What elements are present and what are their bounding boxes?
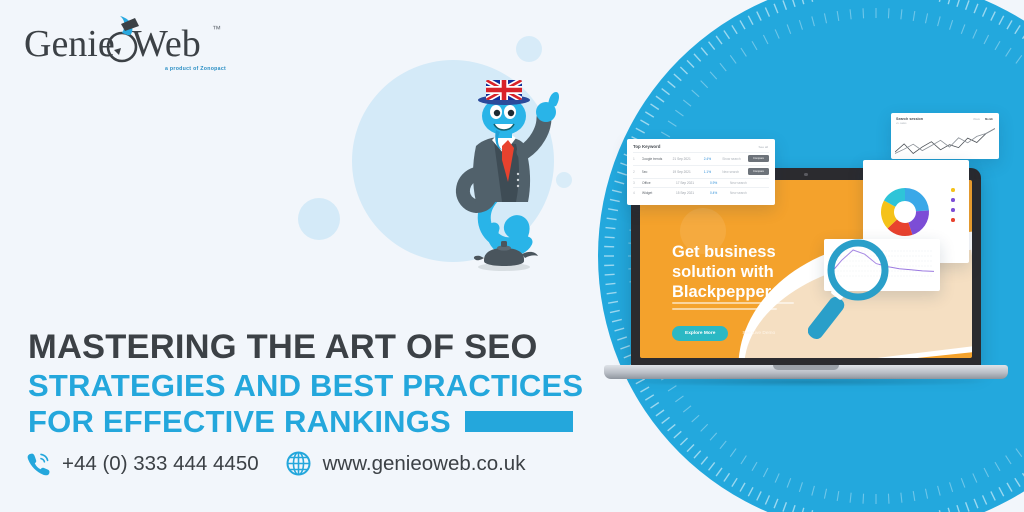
row-keyword: Widget [642,191,672,195]
headline-line-3-wrap: FOR EFFECTIVE RANKINGS [28,406,573,438]
headline-block: MASTERING THE ART OF SEO STRATEGIES AND … [28,330,573,437]
phone-number: +44 (0) 333 444 4450 [62,452,259,476]
magnifier-icon [808,236,894,340]
hero-subtext-placeholder [672,302,794,314]
row-group: New search [722,170,744,174]
phone-icon [24,450,51,477]
logo-tagline: a product of Zonopact [165,66,226,72]
contact-row: +44 (0) 333 444 4450 www.genieoweb.co.uk [24,450,525,477]
row-change: 1.1% [704,170,718,174]
genie-mascot [432,78,567,283]
row-change: 2.4% [704,157,718,161]
svg-text:Genie: Genie [24,23,115,65]
row-keyword: Office [642,181,672,185]
row-volume: 17 Sep 2021 [676,181,706,185]
legend-dot [951,198,955,202]
row-index: 3 [633,181,638,185]
row-action-button[interactable]: Compare [748,168,769,175]
line-chart-subtitle: vs. sales [896,122,994,125]
row-group: Show search [722,157,744,161]
row-index: 2 [633,170,638,174]
genieweb-logo[interactable]: Genie Web ™ a product of Zonopact [22,14,232,72]
globe-icon [285,450,312,477]
laptop-trackpad-notch [773,365,839,370]
row-volume: 19 Sep 2021 [673,170,700,174]
row-group: New search [730,181,754,185]
table-row[interactable]: 3 Office 17 Sep 2021 0.9% New search [633,178,769,188]
headline-line-1: MASTERING THE ART OF SEO [28,330,573,365]
multi-line-chart [895,127,995,155]
hero-cta-row: Explore More See Live Demo [672,326,775,341]
accent-bar [465,411,573,432]
explore-more-button[interactable]: Explore More [672,326,728,341]
donut-slice [905,188,929,211]
website-url: www.genieoweb.co.uk [323,452,526,476]
chart-line [895,129,995,154]
row-index: 4 [633,191,638,195]
laptop-shadow [620,377,992,387]
search-session-chart-card: Search session vs. sales Week Month [891,113,999,159]
line-chart-tabs: Week Month [973,118,993,121]
decorative-circle-small [298,198,340,240]
legend-dot [951,208,955,212]
webcam-dot [804,173,807,176]
donut-slice [908,210,929,234]
row-change: 0.9% [710,181,726,185]
row-group: New search [730,191,754,195]
tab-month[interactable]: Month [985,118,993,121]
row-change: 0.4% [710,191,726,195]
headline-line-3: FOR EFFECTIVE RANKINGS [28,406,451,438]
website-contact[interactable]: www.genieoweb.co.uk [285,450,526,477]
row-keyword: Google trends [642,157,669,161]
top-keyword-card: Top Keyword See all 1 Google trends 21 S… [627,139,775,205]
row-index: 1 [633,157,638,161]
row-action-button[interactable]: Compare [748,155,769,162]
row-keyword: Seo [642,170,669,174]
tab-week[interactable]: Week [973,118,980,121]
svg-text:Web: Web [132,23,201,65]
legend-dot [951,218,955,222]
keyword-card-see-all[interactable]: See all [759,145,768,149]
legend-dot [951,188,955,192]
headline-line-2: STRATEGIES AND BEST PRACTICES [28,370,573,402]
table-row[interactable]: 2 Seo 19 Sep 2021 1.1% New search Compar… [633,165,769,178]
decorative-circle-tiny [516,36,542,62]
seo-marketing-banner: Genie Web ™ a product of Zonopact [0,0,1024,512]
donut-legend [951,188,955,222]
table-row[interactable]: 1 Google trends 21 Sep 2021 2.4% Show se… [633,152,769,165]
see-live-demo-link[interactable]: See Live Demo [742,331,775,336]
row-volume: 15 Sep 2021 [676,191,706,195]
svg-text:™: ™ [212,24,221,34]
table-row[interactable]: 4 Widget 15 Sep 2021 0.4% New search [633,187,769,197]
row-volume: 21 Sep 2021 [673,157,700,161]
phone-contact[interactable]: +44 (0) 333 444 4450 [24,450,259,477]
keyword-card-title: Top Keyword [633,144,769,149]
